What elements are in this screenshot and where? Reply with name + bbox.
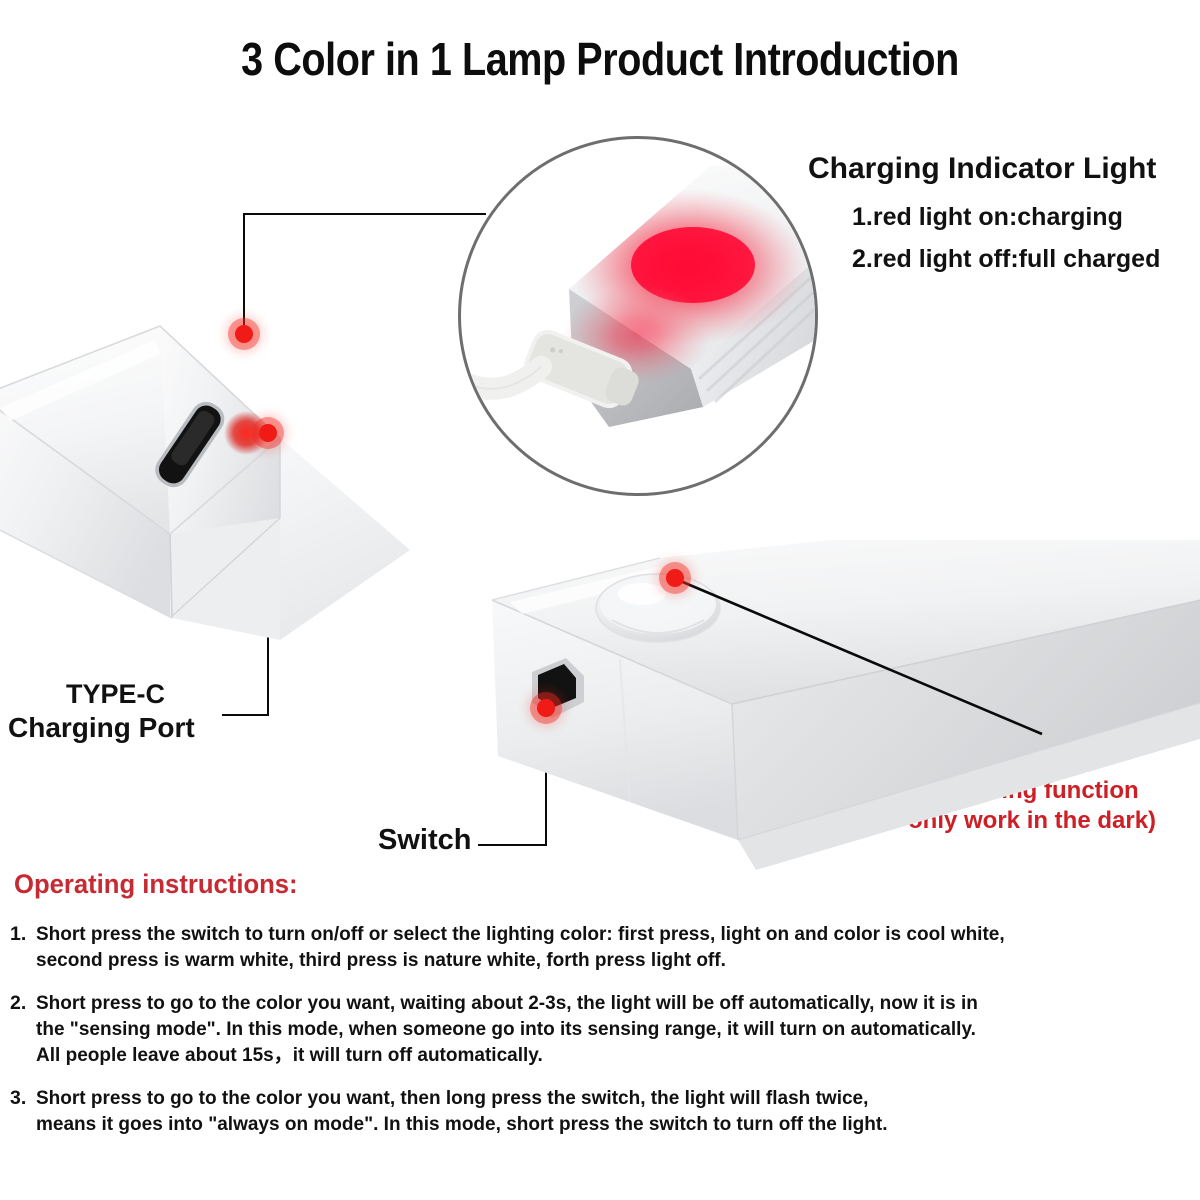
instruction-line: the "sensing mode". In this mode, when s… — [36, 1017, 1166, 1043]
instruction-line: means it goes into "always on mode". In … — [36, 1112, 1166, 1138]
instruction-line: Short press to go to the color you want,… — [36, 1086, 1166, 1112]
instruction-item: 2. Short press to go to the color you wa… — [10, 991, 1195, 1069]
type-c-label-line2: Charging Port — [8, 712, 195, 744]
instruction-text: Short press the switch to turn on/off or… — [36, 922, 1166, 974]
marker-dot-sensor — [666, 569, 684, 587]
instruction-number: 3. — [10, 1086, 36, 1138]
infographic-canvas: 3 Color in 1 Lamp Product Introduction — [0, 0, 1200, 1200]
operating-instructions-heading: Operating instructions: — [14, 869, 298, 900]
instruction-text: Short press to go to the color you want,… — [36, 991, 1166, 1069]
charging-indicator-title: Charging Indicator Light — [808, 152, 1156, 186]
right-lamp-photo — [470, 540, 1200, 870]
instruction-line: second press is warm white, third press … — [36, 948, 1166, 974]
switch-label: Switch — [378, 824, 471, 857]
instruction-line: All people leave about 15s，it will turn … — [36, 1043, 1166, 1069]
instruction-text: Short press to go to the color you want,… — [36, 1086, 1166, 1138]
operating-instructions-list: 1. Short press the switch to turn on/off… — [10, 922, 1195, 1154]
instruction-line: Short press the switch to turn on/off or… — [36, 922, 1166, 948]
instruction-item: 3. Short press to go to the color you wa… — [10, 1086, 1195, 1138]
charging-closeup-inset — [458, 136, 818, 496]
instruction-number: 2. — [10, 991, 36, 1069]
leader-typec-horizontal — [222, 714, 269, 716]
instruction-number: 1. — [10, 922, 36, 974]
left-lamp-photo — [0, 288, 450, 668]
charging-indicator-item-2: 2.red light off:full charged — [852, 245, 1160, 274]
marker-dot-switch — [537, 699, 555, 717]
page-title: 3 Color in 1 Lamp Product Introduction — [84, 32, 1116, 86]
leader-charging-horizontal — [243, 213, 486, 215]
charging-indicator-item-1: 1.red light on:charging — [852, 203, 1123, 232]
instruction-line: Short press to go to the color you want,… — [36, 991, 1166, 1017]
type-c-label-line1: TYPE-C — [66, 679, 165, 710]
marker-dot-charging-indicator — [235, 325, 253, 343]
instruction-item: 1. Short press the switch to turn on/off… — [10, 922, 1195, 974]
marker-dot-type-c-port — [259, 424, 277, 442]
